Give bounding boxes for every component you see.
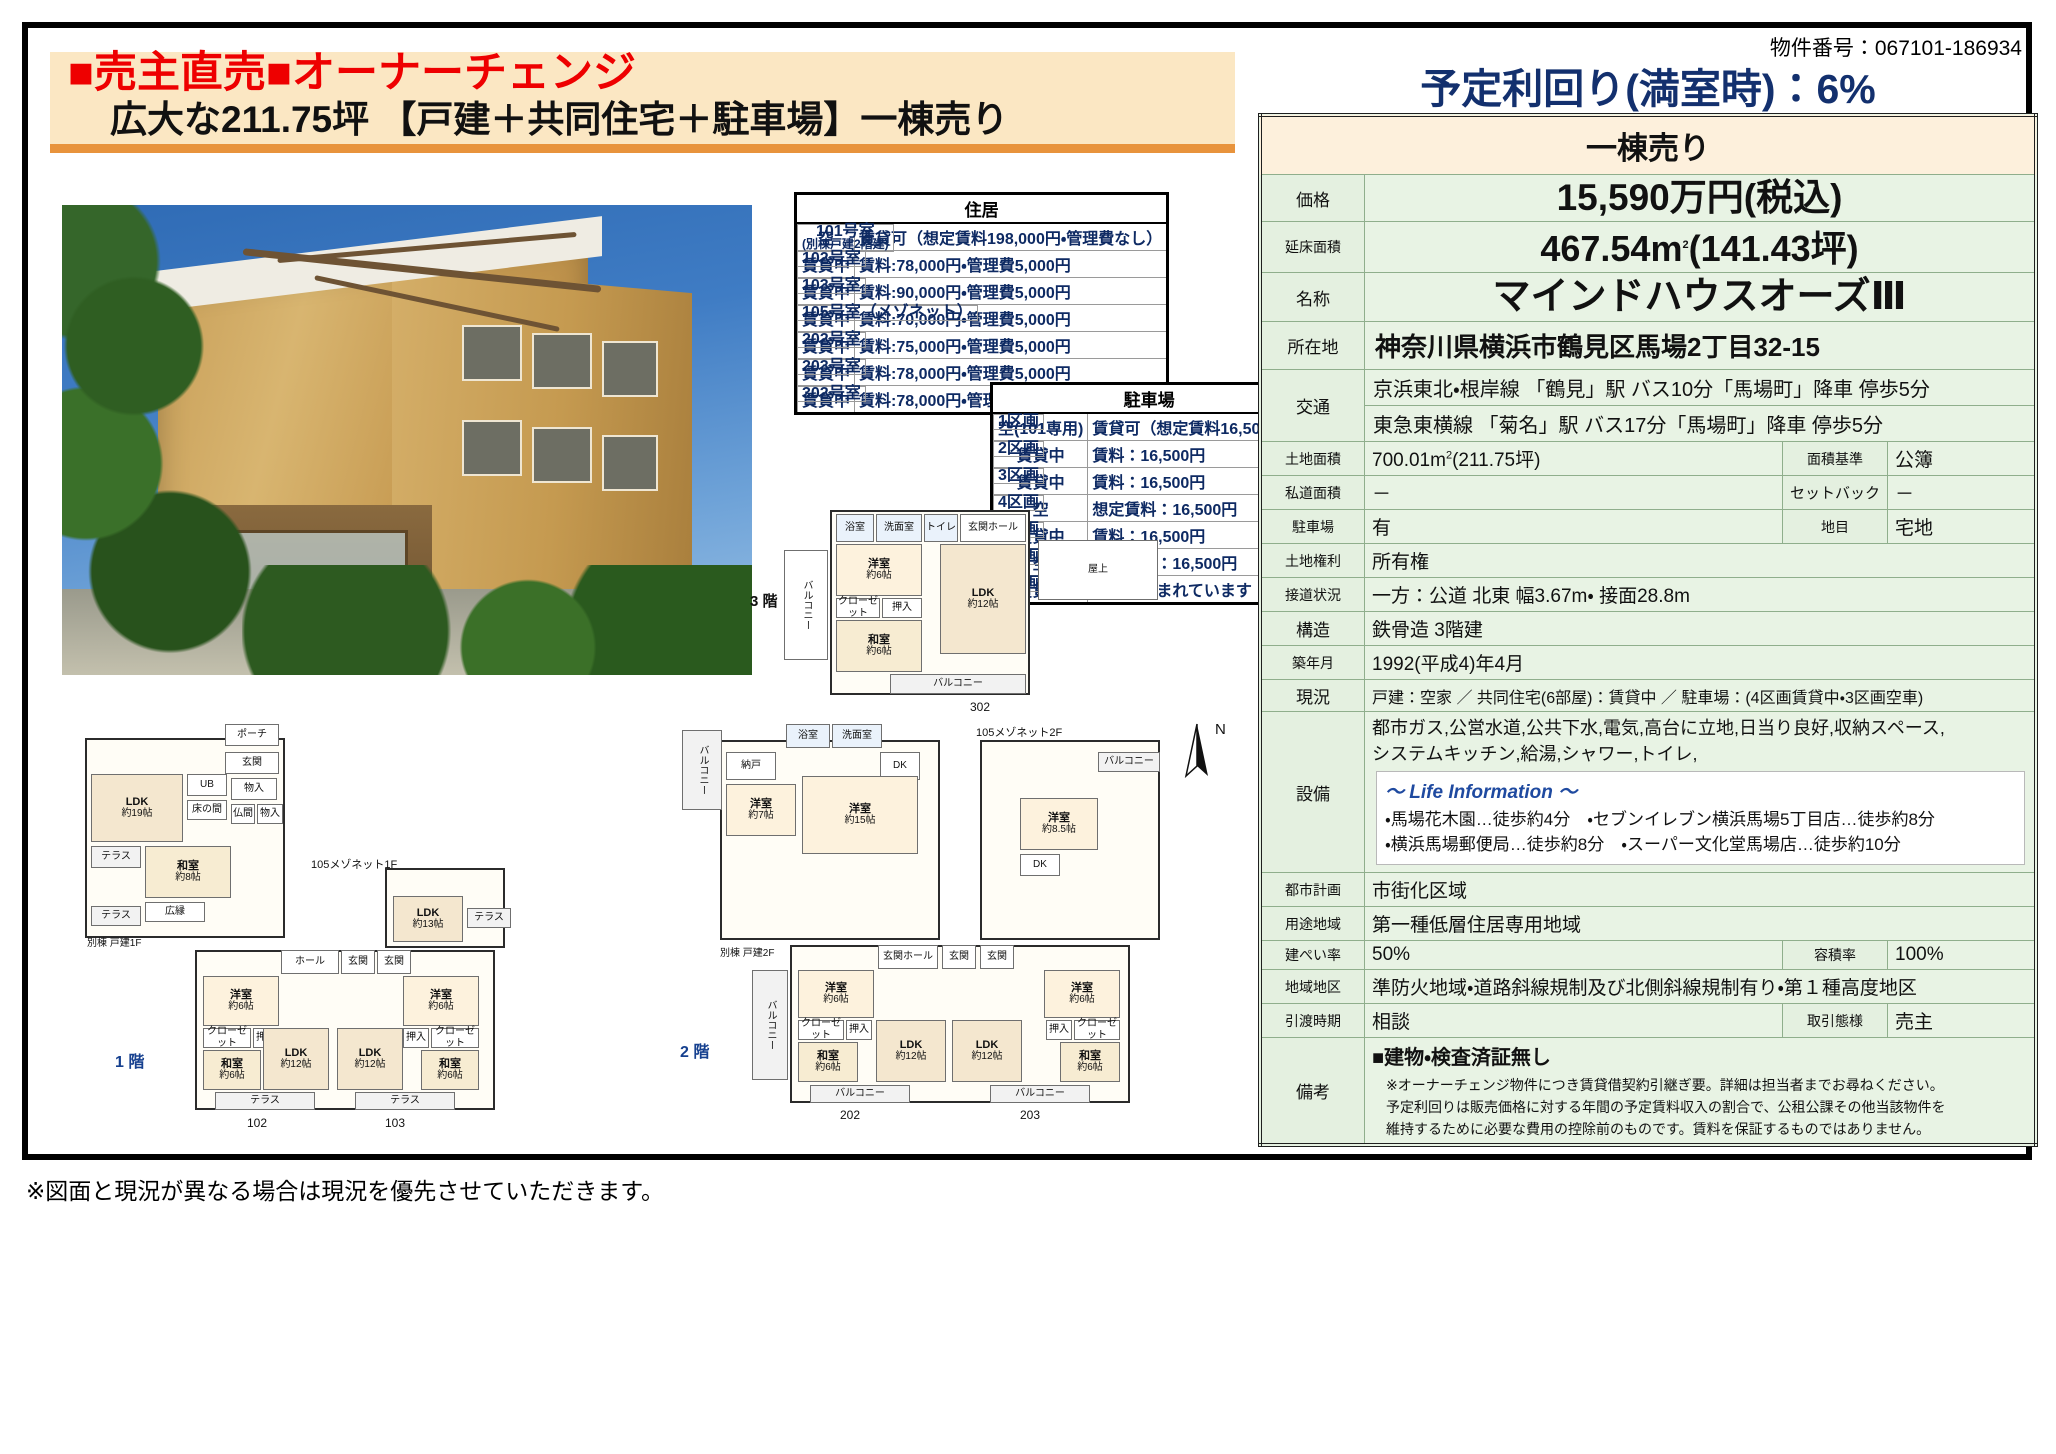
room-name: 和室 xyxy=(439,1058,461,1070)
private-road-label: 私道面積 xyxy=(1260,476,1365,510)
room-tag: バルコニー xyxy=(800,580,812,630)
room-rent: 賃貸可（想定賃料198,000円・管理費なし） xyxy=(855,223,1168,251)
room-size: 約8帖 xyxy=(175,872,201,884)
current-status-value: 戸建：空家 ／ 共同住宅(6部屋)：賃貸中 ／ 駐車場：(4区画賃貸中・3区画空… xyxy=(1365,680,2037,712)
land-category-value: 宅地 xyxy=(1888,510,2036,544)
room-tag: テラス xyxy=(390,1095,420,1107)
room-name: 洋室 xyxy=(825,982,847,994)
road-label: 接道状況 xyxy=(1260,578,1365,612)
room-size: 約6帖 xyxy=(823,994,849,1006)
room-tag: バルコニー xyxy=(1104,756,1154,768)
remarks-cell: ■建物・検査済証無し ※オーナーチェンジ物件につき賃貸借契約引継ぎ要。詳細は担当… xyxy=(1365,1038,2037,1146)
table-row: 202号室 賃貸中 賃料:75,000円・管理費5,000円 xyxy=(796,332,1168,359)
remarks-heading: ■建物・検査済証無し xyxy=(1372,1041,2027,1074)
room-tag: クローゼット xyxy=(204,1026,250,1050)
room-tag: 物入 xyxy=(244,783,264,795)
footnote-disclaimer: ※図面と現況が異なる場合は現況を優先させていただきます。 xyxy=(26,1172,664,1206)
room-rent: 賃料:78,000円・管理費5,000円 xyxy=(855,251,1168,278)
floor-label-3f: 3 階 xyxy=(750,590,778,611)
room-name: LDK xyxy=(976,1039,999,1051)
transport-line-1: 京浜東北・根岸線 「鶴見」駅 バス10分「馬場町」降車 停歩5分 xyxy=(1365,370,2037,406)
room-tag: クローゼット xyxy=(799,1018,843,1042)
floor-label-2f: 2 階 xyxy=(680,1038,709,1062)
deal-type-label: 取引態様 xyxy=(1783,1004,1888,1038)
info-row-zone: 用途地域 第一種低層住居専用地域 xyxy=(1260,907,2036,941)
handover-label: 引渡時期 xyxy=(1260,1004,1365,1038)
room-size: 約6帖 xyxy=(866,646,892,658)
banner-headline-secondary: 広大な211.75坪 【戸建＋共同住宅＋駐車場】一棟売り xyxy=(110,98,1270,142)
room-size: 約13帖 xyxy=(412,919,443,931)
room-name: 和室 xyxy=(817,1050,839,1062)
unit-tag-detached-1f: 別棟 戸建1F xyxy=(87,934,141,949)
room-size: 約6帖 xyxy=(228,1001,254,1013)
info-row-current: 現況 戸建：空家 ／ 共同住宅(6部屋)：賃貸中 ／ 駐車場：(4区画賃貸中・3… xyxy=(1260,680,2036,712)
photo-window xyxy=(602,341,658,397)
info-row-structure: 構造 鉄骨造 3階建 xyxy=(1260,612,2036,646)
room-tag: バルコニー xyxy=(835,1088,885,1100)
room-tag: バルコニー xyxy=(933,678,983,690)
info-row-built: 築年月 1992(平成4)年4月 xyxy=(1260,646,2036,680)
info-row-parking: 駐車場 有 地目 宅地 xyxy=(1260,510,2036,544)
structure-value: 鉄骨造 3階建 xyxy=(1365,612,2037,646)
room-name: 洋室 xyxy=(1048,812,1070,824)
room-size: 約8.5帖 xyxy=(1042,824,1076,836)
area-basis-value: 公簿 xyxy=(1888,442,2036,476)
floor-area-value: 467.54m2(141.43坪) xyxy=(1365,222,2037,273)
room-label: 203号室 xyxy=(797,359,866,375)
info-row-transport-1: 交通 京浜東北・根岸線 「鶴見」駅 バス10分「馬場町」降車 停歩5分 xyxy=(1260,370,2036,406)
floor-area-label: 延床面積 xyxy=(1260,222,1365,273)
info-row-road: 接道状況 一方：公道 北東 幅3.67m・ 接面28.8m xyxy=(1260,578,2036,612)
life-information-title: ～ Life Information ～ xyxy=(1385,777,2016,807)
info-header-row: 一棟売り xyxy=(1260,115,2036,175)
remarks-line-1: ※オーナーチェンジ物件につき賃貸借契約引継ぎ要。詳細は担当者までお尋ねください。 xyxy=(1372,1074,2027,1096)
banner-headline-primary: ■売主直売■オーナーチェンジ xyxy=(68,50,1228,96)
floor-area-tsubo: (141.43坪) xyxy=(1689,228,1859,269)
info-row-city-plan: 都市計画 市街化区域 xyxy=(1260,873,2036,907)
info-row-handover: 引渡時期 相談 取引態様 売主 xyxy=(1260,1004,2036,1038)
info-row-land-right: 土地権利 所有権 xyxy=(1260,544,2036,578)
room-name: 和室 xyxy=(177,860,199,872)
room-tag: 押入 xyxy=(1049,1024,1069,1036)
land-area-tsubo: (211.75坪) xyxy=(1452,450,1540,471)
unit-tag-103: 103 xyxy=(385,1116,405,1130)
room-name: 洋室 xyxy=(868,558,890,570)
lot-label: 3区画 xyxy=(993,468,1044,484)
room-tag: 玄関 xyxy=(384,956,404,968)
city-plan-label: 都市計画 xyxy=(1260,873,1365,907)
remarks-line-3: 維持するために必要な費用の控除前のものです。賃料を保証するものではありません。 xyxy=(1372,1118,2027,1140)
zone-label: 用途地域 xyxy=(1260,907,1365,941)
room-rent: 賃料:90,000円・管理費5,000円 xyxy=(855,278,1168,305)
room-size: 約6帖 xyxy=(219,1070,245,1082)
room-tag: 洗面室 xyxy=(884,522,914,534)
room-tag: テラス xyxy=(474,912,504,924)
room-tag: トイレ xyxy=(926,522,956,534)
far-label: 容積率 xyxy=(1783,941,1888,970)
room-note: (別棟戸建2階建) xyxy=(802,238,889,250)
room-tag: 玄関 xyxy=(348,956,368,968)
room-name: LDK xyxy=(285,1047,308,1059)
photo-window xyxy=(532,427,592,483)
equipment-line-2: システムキッチン,給湯,シャワー,トイレ, xyxy=(1372,741,2027,767)
yield-headline: 予定利回り(満室時)：6% xyxy=(1258,55,2038,115)
room-tag: クローゼット xyxy=(1075,1018,1119,1042)
room-size: 約6帖 xyxy=(815,1062,841,1074)
room-tag: バルコニー xyxy=(764,1000,776,1050)
floorplan-3f: 浴室 洗面室 トイレ 玄関ホール 洋室 約6帖 LDK 約12帖 クローゼット … xyxy=(830,510,1190,720)
deal-type-value: 売主 xyxy=(1888,1004,2036,1038)
room-tag: クローゼット xyxy=(837,596,879,620)
room-tag: バルコニー xyxy=(696,745,708,795)
banner-underline xyxy=(50,144,1235,153)
parking-label: 駐車場 xyxy=(1260,510,1365,544)
room-name: 洋室 xyxy=(430,989,452,1001)
private-road-value: － xyxy=(1365,476,1783,510)
room-size: 約12帖 xyxy=(971,1051,1002,1063)
unit-tag-105-1f: 105メゾネット1F xyxy=(311,856,397,872)
room-name: 洋室 xyxy=(230,989,252,1001)
compass-north-icon: N xyxy=(1160,720,1234,794)
area-basis-label: 面積基準 xyxy=(1783,442,1888,476)
room-tag: 浴室 xyxy=(798,730,818,742)
room-tag: 床の間 xyxy=(192,804,222,816)
info-row-transport-2: 東急東横線 「菊名」駅 バス17分「馬場町」降車 停歩5分 xyxy=(1260,406,2036,442)
room-size: 約6帖 xyxy=(428,1001,454,1013)
photo-window xyxy=(602,435,658,491)
transport-label: 交通 xyxy=(1260,370,1365,442)
building-name-value: マインドハウスオーズⅢ xyxy=(1365,273,2037,322)
district-value: 準防火地域・道路斜線規制及び北側斜線規制有り・第１種高度地区 xyxy=(1365,970,2037,1004)
bcr-label: 建ぺい率 xyxy=(1260,941,1365,970)
room-name: LDK xyxy=(359,1047,382,1059)
room-tag: ポーチ xyxy=(237,729,267,741)
table-row: 102号室 賃貸中 賃料:78,000円・管理費5,000円 xyxy=(796,251,1168,278)
price-value: 15,590万円(税込) xyxy=(1365,175,2037,222)
handover-value: 相談 xyxy=(1365,1004,1783,1038)
room-size: 約6帖 xyxy=(1069,994,1095,1006)
room-size: 約12帖 xyxy=(895,1051,926,1063)
info-row-district: 地域地区 準防火地域・道路斜線規制及び北側斜線規制有り・第１種高度地区 xyxy=(1260,970,2036,1004)
table-row: 105号室（メゾネット） 賃貸中 賃料:70,000円・管理費5,000円 xyxy=(796,305,1168,332)
room-size: 約12帖 xyxy=(280,1059,311,1071)
room-name: 洋室 xyxy=(1071,982,1093,994)
room-size: 約7帖 xyxy=(748,810,774,822)
built-label: 築年月 xyxy=(1260,646,1365,680)
unit-tag-105-2f: 105メゾネット2F xyxy=(976,724,1062,740)
unit-tag-202: 202 xyxy=(840,1108,860,1122)
address-value: 神奈川県横浜市鶴見区馬場2丁目32-15 xyxy=(1365,322,2037,370)
room-label: 103号室 xyxy=(797,278,866,294)
land-right-value: 所有権 xyxy=(1365,544,2037,578)
room-tag: テラス xyxy=(101,910,131,922)
remarks-label: 備考 xyxy=(1260,1038,1365,1146)
room-tag: 仏間 xyxy=(233,808,253,820)
city-plan-value: 市街化区域 xyxy=(1365,873,2037,907)
info-row-remarks: 備考 ■建物・検査済証無し ※オーナーチェンジ物件につき賃貸借契約引継ぎ要。詳細… xyxy=(1260,1038,2036,1146)
table-row: 103号室 賃貸中 賃料:90,000円・管理費5,000円 xyxy=(796,278,1168,305)
room-tag: 押入 xyxy=(406,1032,426,1044)
room-name: 和室 xyxy=(868,634,890,646)
room-tag: 広縁 xyxy=(165,906,185,918)
photo-shrubs xyxy=(242,565,752,675)
unit-tag-102: 102 xyxy=(247,1116,267,1130)
room-name: LDK xyxy=(417,907,440,919)
room-tag: 玄関 xyxy=(987,951,1007,963)
district-label: 地域地区 xyxy=(1260,970,1365,1004)
room-size: 約12帖 xyxy=(354,1059,385,1071)
room-tag: 物入 xyxy=(260,808,280,820)
land-category-label: 地目 xyxy=(1783,510,1888,544)
info-row-name: 名称 マインドハウスオーズⅢ xyxy=(1260,273,2036,322)
room-rent: 賃料:75,000円・管理費5,000円 xyxy=(855,332,1168,359)
far-value: 100% xyxy=(1888,941,2036,970)
transport-line-2: 東急東横線 「菊名」駅 バス17分「馬場町」降車 停歩5分 xyxy=(1365,406,2037,442)
lot-label: 1区画 xyxy=(993,414,1044,430)
room-tag: 押入 xyxy=(892,602,912,614)
equipment-label: 設備 xyxy=(1260,712,1365,873)
current-status-label: 現況 xyxy=(1260,680,1365,712)
room-tag: 玄関 xyxy=(949,951,969,963)
land-area-label: 土地面積 xyxy=(1260,442,1365,476)
room-tag: 玄関ホール xyxy=(968,522,1018,534)
unit-tag-203: 203 xyxy=(1020,1108,1040,1122)
land-area-sqm: 700.01 xyxy=(1372,450,1430,471)
info-row-equipment: 設備 都市ガス,公営水道,公共下水,電気,高台に立地,日当り良好,収納スペース,… xyxy=(1260,712,2036,873)
zone-value: 第一種低層住居専用地域 xyxy=(1365,907,2037,941)
land-area-value: 700.01m2(211.75坪) xyxy=(1365,442,1783,476)
road-value: 一方：公道 北東 幅3.67m・ 接面28.8m xyxy=(1365,578,2037,612)
equipment-line-1: 都市ガス,公営水道,公共下水,電気,高台に立地,日当り良好,収納スペース, xyxy=(1372,715,2027,741)
room-name: LDK xyxy=(126,796,149,808)
lot-label: 2区画 xyxy=(993,441,1044,457)
unit-tag-302: 302 xyxy=(970,700,990,714)
room-name: 和室 xyxy=(221,1058,243,1070)
info-row-ratios: 建ぺい率 50% 容積率 100% xyxy=(1260,941,2036,970)
room-size: 約6帖 xyxy=(866,570,892,582)
room-tag: 洗面室 xyxy=(842,730,872,742)
equipment-cell: 都市ガス,公営水道,公共下水,電気,高台に立地,日当り良好,収納スペース, シス… xyxy=(1365,712,2037,873)
built-value: 1992(平成4)年4月 xyxy=(1365,646,2037,680)
room-name: LDK xyxy=(972,587,995,599)
room-name: LDK xyxy=(900,1039,923,1051)
room-size: 約6帖 xyxy=(1077,1062,1103,1074)
parking-value: 有 xyxy=(1365,510,1783,544)
room-name: 洋室 xyxy=(750,798,772,810)
room-size: 約6帖 xyxy=(437,1070,463,1082)
room-tag: 納戸 xyxy=(741,760,761,772)
life-information-line-1: ・馬場花木園…徒歩約4分 ・セブンイレブン横浜馬場5丁目店…徒歩約8分 xyxy=(1385,807,2016,832)
residence-table-caption: 住居 xyxy=(796,194,1168,224)
address-label: 所在地 xyxy=(1260,322,1365,370)
room-tag: 押入 xyxy=(849,1024,869,1036)
room-size: 約19帖 xyxy=(121,808,152,820)
room-label: 202号室 xyxy=(797,332,866,348)
lot-label: 4区画 xyxy=(993,495,1044,511)
floorplan-1f: ポーチ 玄関 LDK 約19帖 UB 物入 床の間 仏間 物入 和室 約8帖 広… xyxy=(85,728,665,1148)
table-row: 101号室(別棟戸建2階建) 空 賃貸可（想定賃料198,000円・管理費なし） xyxy=(796,223,1168,251)
room-label: 302号室 xyxy=(797,386,866,402)
structure-label: 構造 xyxy=(1260,612,1365,646)
room-tag: クローゼット xyxy=(432,1026,478,1050)
room-tag: DK xyxy=(893,760,907,772)
photo-window xyxy=(462,325,522,381)
name-label: 名称 xyxy=(1260,273,1365,322)
svg-text:N: N xyxy=(1215,721,1226,738)
floor-area-sqm: 467.54 xyxy=(1540,228,1650,269)
price-label: 価格 xyxy=(1260,175,1365,222)
unit-tag-detached-2f: 別棟 戸建2F xyxy=(720,944,774,959)
sale-type-header: 一棟売り xyxy=(1260,115,2036,175)
floor-area-unit: m xyxy=(1650,228,1682,269)
info-row-price: 価格 15,590万円(税込) xyxy=(1260,175,2036,222)
info-row-floor-area: 延床面積 467.54m2(141.43坪) xyxy=(1260,222,2036,273)
room-tag: 屋上 xyxy=(1088,564,1108,576)
photo-window xyxy=(462,420,522,476)
room-label: 105号室（メゾネット） xyxy=(797,305,978,321)
room-tag: 玄関ホール xyxy=(883,951,933,963)
room-tag: 玄関 xyxy=(242,757,262,769)
room-tag: テラス xyxy=(101,851,131,863)
room-tag: ホール xyxy=(295,956,325,968)
setback-value: － xyxy=(1888,476,2036,510)
room-tag: DK xyxy=(1033,859,1047,871)
room-name: 和室 xyxy=(1079,1050,1101,1062)
property-photo xyxy=(62,205,752,675)
room-name: 洋室 xyxy=(849,803,871,815)
life-information-line-2: ・横浜馬場郵便局…徒歩約8分 ・スーパー文化堂馬場店…徒歩約10分 xyxy=(1385,832,2016,857)
info-row-private-road: 私道面積 － セットバック － xyxy=(1260,476,2036,510)
bcr-value: 50% xyxy=(1365,941,1783,970)
room-tag: 浴室 xyxy=(845,522,865,534)
info-row-address: 所在地 神奈川県横浜市鶴見区馬場2丁目32-15 xyxy=(1260,322,2036,370)
listing-page: 物件番号：067101-186934 ■売主直売■オーナーチェンジ 広大な211… xyxy=(0,0,2056,1454)
land-right-label: 土地権利 xyxy=(1260,544,1365,578)
info-row-land-area: 土地面積 700.01m2(211.75坪) 面積基準 公簿 xyxy=(1260,442,2036,476)
room-tag: バルコニー xyxy=(1015,1088,1065,1100)
setback-label: セットバック xyxy=(1783,476,1888,510)
room-size: 約12帖 xyxy=(967,599,998,611)
life-information-box: ～ Life Information ～ ・馬場花木園…徒歩約4分 ・セブンイレ… xyxy=(1376,771,2025,865)
room-tag: UB xyxy=(200,779,214,791)
floor-label-1f: 1 階 xyxy=(115,1048,144,1072)
photo-window xyxy=(532,333,592,389)
room-size: 約15帖 xyxy=(844,815,875,827)
room-tag: テラス xyxy=(250,1095,280,1107)
room-label: 102号室 xyxy=(797,251,866,267)
remarks-line-2: 予定利回りは販売価格に対する年間の予定賃料収入の割合で、公租公課その他当該物件を xyxy=(1372,1096,2027,1118)
property-info-table: 一棟売り 価格 15,590万円(税込) 延床面積 467.54m2(141.4… xyxy=(1258,113,2038,1147)
